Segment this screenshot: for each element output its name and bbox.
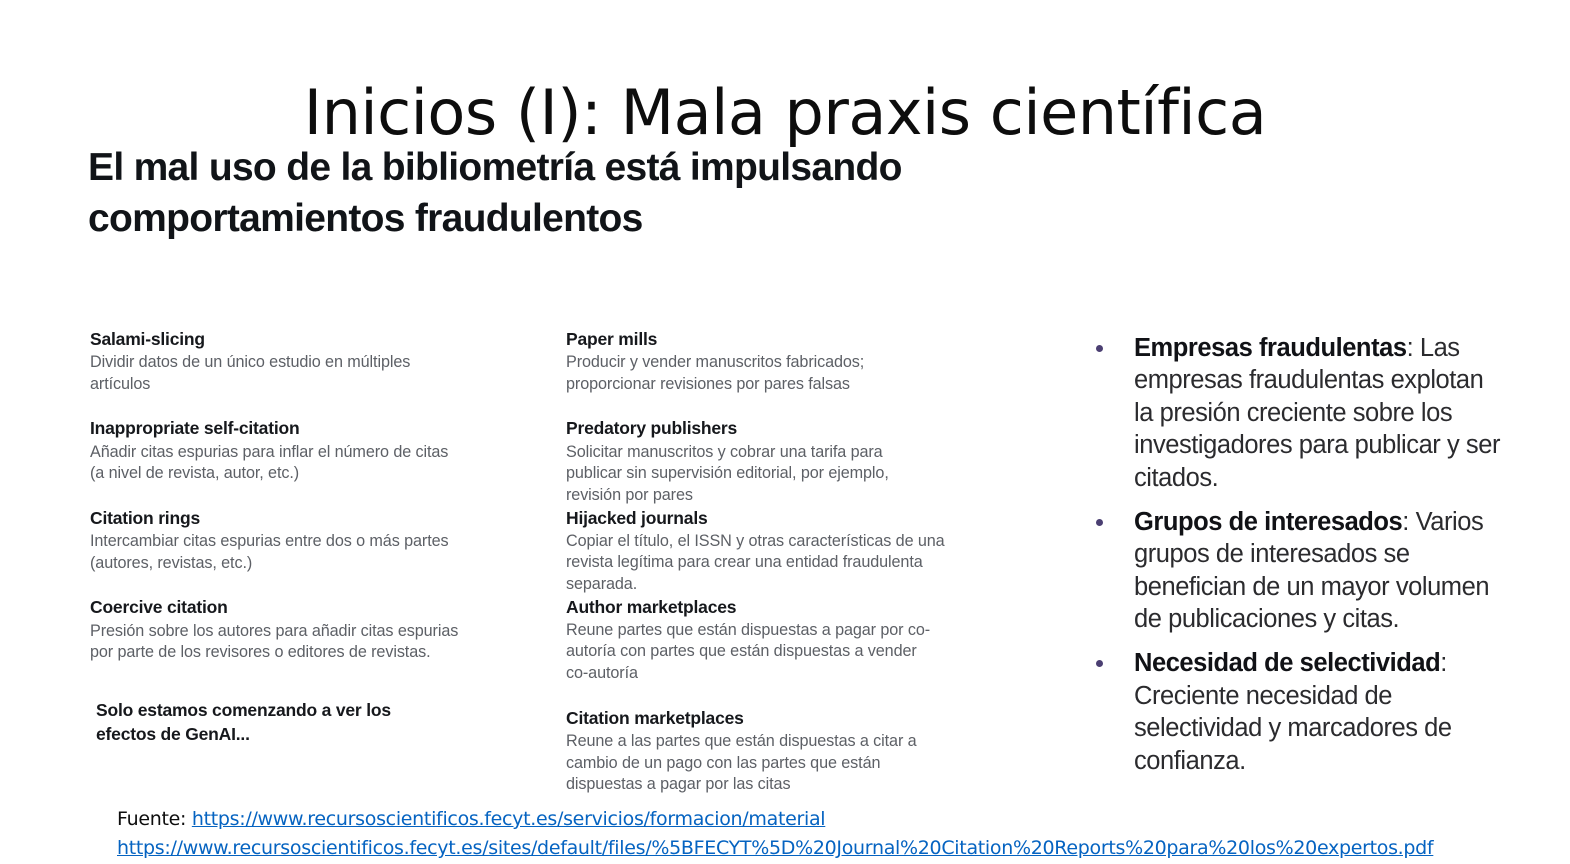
source-link-2[interactable]: https://www.recursoscientificos.fecyt.es… [117, 837, 1433, 859]
bullet-dot-icon [1096, 660, 1103, 667]
genai-note: Solo estamos comenzando a ver los efecto… [90, 698, 490, 746]
bullet-dot-icon [1096, 345, 1103, 352]
graphic-headline: El mal uso de la bibliometría está impul… [88, 142, 1148, 245]
bullet-dot-icon [1096, 519, 1103, 526]
list-item: Grupos de interesados: Varios grupos de … [1088, 506, 1508, 636]
desc-line: revisión por pares [566, 485, 971, 507]
term-description: Producir y vender manuscritos fabricados… [566, 352, 971, 395]
term-description: Reune a las partes que están dispuestas … [566, 731, 971, 796]
desc-line: Presión sobre los autores para añadir ci… [90, 621, 490, 643]
desc-line: (autores, revistas, etc.) [90, 553, 490, 575]
term-heading: Predatory publishers [566, 417, 971, 439]
desc-line: artículos [90, 374, 490, 396]
term-description: Presión sobre los autores para añadir ci… [90, 621, 490, 664]
term-block-citation-marketplaces: Citation marketplaces Reune a las partes… [566, 707, 971, 796]
graphic-headline-line-2: comportamientos fraudulentos [88, 193, 1148, 244]
desc-line: revista legítima para crear una entidad … [566, 552, 971, 574]
bullet-term: Empresas fraudulentas [1134, 334, 1407, 362]
term-description: Dividir datos de un único estudio en múl… [90, 352, 490, 395]
desc-line: Reune partes que están dispuestas a paga… [566, 620, 971, 642]
left-column: Salami-slicing Dividir datos de un único… [90, 328, 490, 746]
term-block-salami-slicing: Salami-slicing Dividir datos de un único… [90, 328, 490, 395]
desc-line: proporcionar revisiones por pares falsas [566, 374, 971, 396]
term-heading: Citation rings [90, 507, 490, 529]
middle-column: Paper mills Producir y vender manuscrito… [566, 328, 971, 796]
desc-line: Solicitar manuscritos y cobrar una tarif… [566, 442, 971, 464]
desc-line: por parte de los revisores o editores de… [90, 642, 490, 664]
term-heading: Paper mills [566, 328, 971, 350]
term-heading: Inappropriate self-citation [90, 417, 490, 439]
desc-line: autoría con partes que están dispuestas … [566, 641, 971, 663]
desc-line: Producir y vender manuscritos fabricados… [566, 352, 971, 374]
term-block-inappropriate-self-citation: Inappropriate self-citation Añadir citas… [90, 417, 490, 484]
desc-line: (a nivel de revista, autor, etc.) [90, 463, 490, 485]
term-block-hijacked-journals: Hijacked journals Copiar el título, el I… [566, 507, 971, 596]
graphic-headline-line-1: El mal uso de la bibliometría está impul… [88, 142, 1148, 193]
term-description: Reune partes que están dispuestas a paga… [566, 620, 971, 685]
list-item: Empresas fraudulentas: Las empresas frau… [1088, 332, 1508, 494]
desc-line: Dividir datos de un único estudio en múl… [90, 352, 490, 374]
term-block-citation-rings: Citation rings Intercambiar citas espuri… [90, 507, 490, 574]
bullet-term: Necesidad de selectividad [1134, 649, 1440, 677]
right-bullet-column: Empresas fraudulentas: Las empresas frau… [1088, 332, 1508, 777]
desc-line: publicar sin supervisión editorial, por … [566, 463, 971, 485]
page-title: Inicios (I): Mala praxis científica [0, 80, 1570, 145]
slide-canvas: Inicios (I): Mala praxis científica El m… [0, 0, 1570, 864]
term-block-coercive-citation: Coercive citation Presión sobre los auto… [90, 596, 490, 663]
source-footer: Fuente: https://www.recursoscientificos.… [117, 805, 1517, 864]
term-heading: Salami-slicing [90, 328, 490, 350]
desc-line: Intercambiar citas espurias entre dos o … [90, 531, 490, 553]
genai-note-line: efectos de GenAI... [96, 722, 490, 746]
source-label: Fuente: [117, 808, 192, 830]
desc-line: co-autoría [566, 663, 971, 685]
genai-note-line: Solo estamos comenzando a ver los [96, 698, 490, 722]
term-block-paper-mills: Paper mills Producir y vender manuscrito… [566, 328, 971, 395]
desc-line: Reune a las partes que están dispuestas … [566, 731, 971, 753]
term-heading: Hijacked journals [566, 507, 971, 529]
term-heading: Citation marketplaces [566, 707, 971, 729]
term-block-author-marketplaces: Author marketplaces Reune partes que est… [566, 596, 971, 685]
desc-line: Copiar el título, el ISSN y otras caract… [566, 531, 971, 553]
term-description: Añadir citas espurias para inflar el núm… [90, 442, 490, 485]
term-heading: Coercive citation [90, 596, 490, 618]
list-item: Necesidad de selectividad: Creciente nec… [1088, 647, 1508, 777]
bullet-term: Grupos de interesados [1134, 508, 1402, 536]
desc-line: dispuestas a pagar por las citas [566, 774, 971, 796]
source-link-1[interactable]: https://www.recursoscientificos.fecyt.es… [192, 808, 825, 830]
source-link-2-wrapper: https://www.recursoscientificos.fecyt.es… [117, 834, 1517, 863]
term-description: Intercambiar citas espurias entre dos o … [90, 531, 490, 574]
term-description: Copiar el título, el ISSN y otras caract… [566, 531, 971, 596]
term-description: Solicitar manuscritos y cobrar una tarif… [566, 442, 971, 507]
term-heading: Author marketplaces [566, 596, 971, 618]
term-block-predatory-publishers: Predatory publishers Solicitar manuscrit… [566, 417, 971, 506]
desc-line: separada. [566, 574, 971, 596]
desc-line: cambio de un pago con las partes que est… [566, 753, 971, 775]
desc-line: Añadir citas espurias para inflar el núm… [90, 442, 490, 464]
